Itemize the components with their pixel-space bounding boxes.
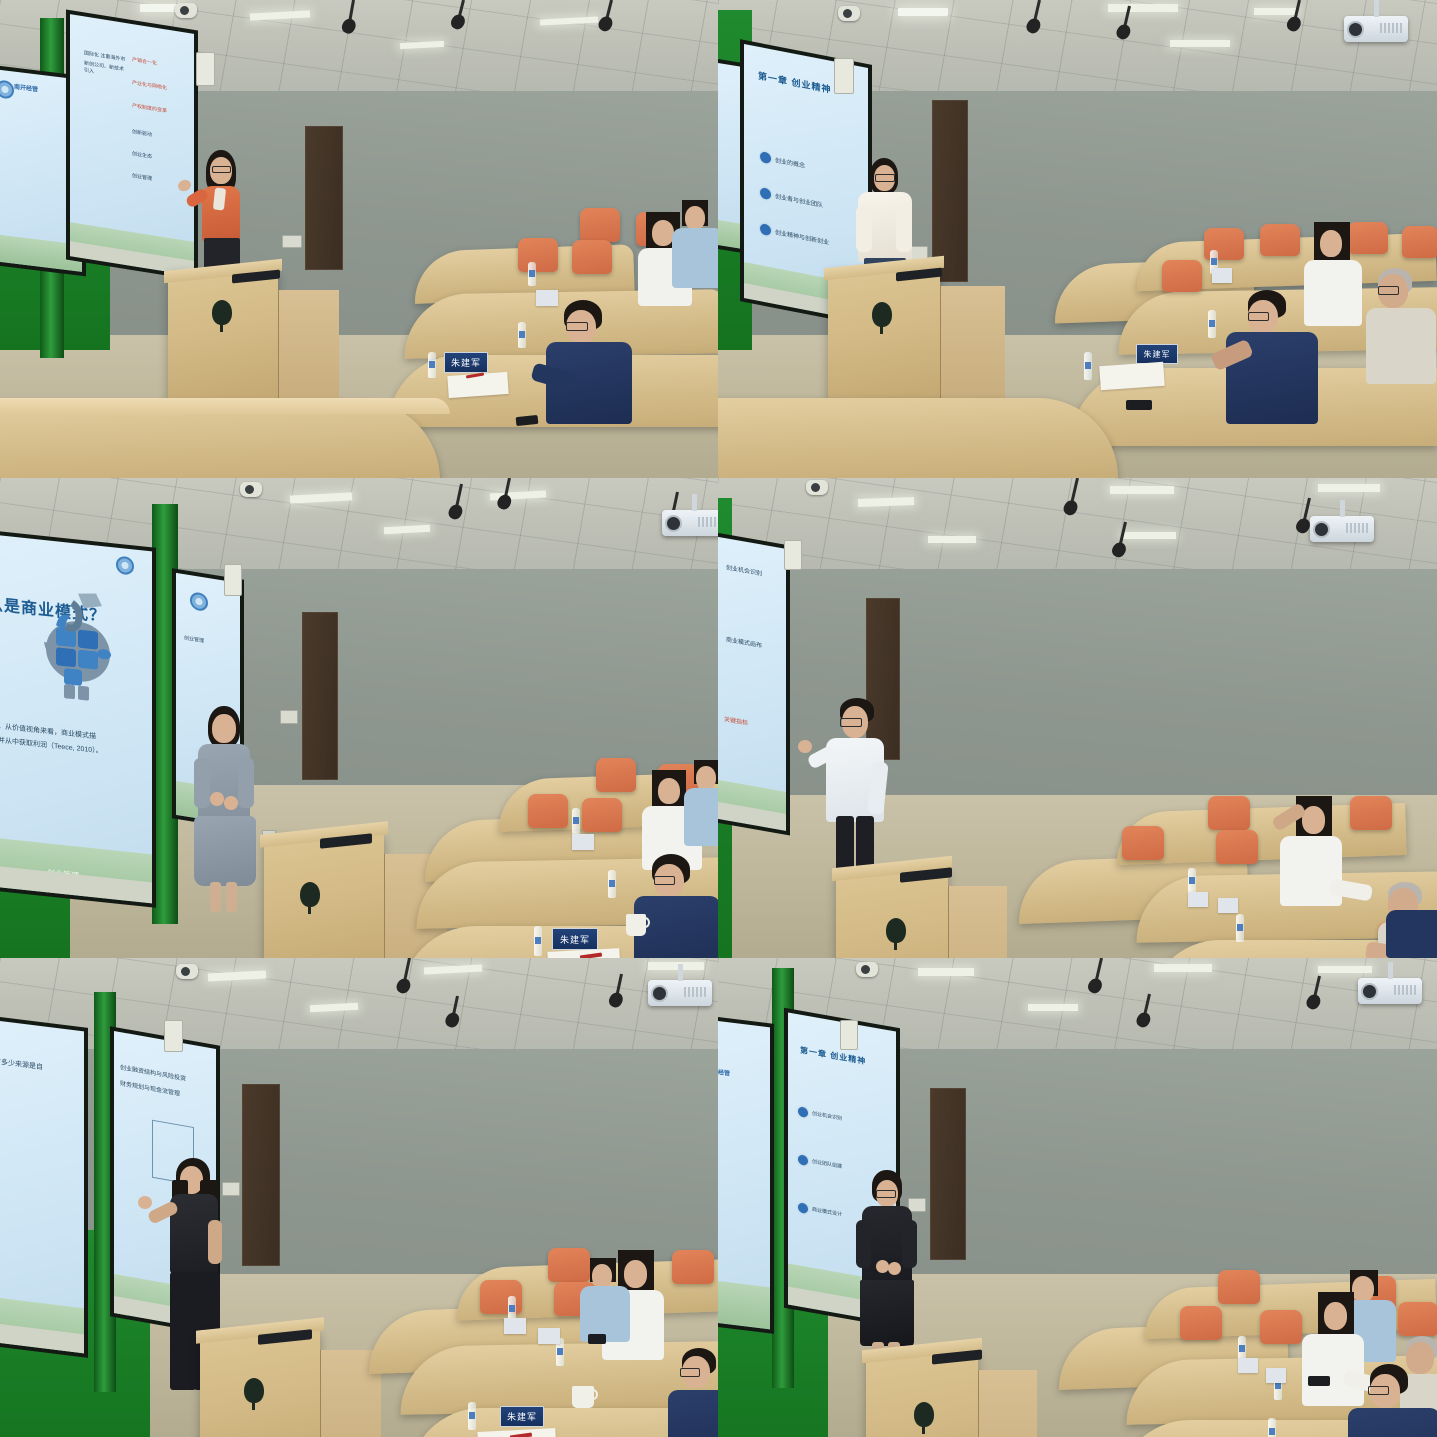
ceiling-projector [1344,16,1408,42]
hand [798,740,812,753]
head [652,220,674,246]
projection-screen-main: 国际化 注重海外市 新创公司、新技术引入 产销合一化 产业化与网络化 产权制度的… [66,10,198,281]
head [1320,230,1342,257]
torso [1348,1408,1437,1437]
auditorium-chair[interactable] [1402,226,1437,258]
auditorium-chair[interactable] [572,240,612,274]
ceiling-light [1154,964,1212,972]
ceiling-camera-icon [838,6,860,21]
head [1324,1302,1347,1330]
auditorium-chair[interactable] [528,794,568,828]
bullet-icon [760,151,771,164]
slide-line: 创业机会识别 [726,562,762,577]
ceiling-camera-icon [175,3,197,18]
bullet-icon [760,223,771,236]
head [696,766,716,790]
name-card [1188,892,1208,907]
glasses-icon [566,322,588,331]
ceiling-light [1318,966,1372,973]
panel-6: 南开经管 第一章 创业精神 创业机会识别 创业团队组建 商业模式设计 创业管理 [718,958,1437,1437]
ceiling-camera-icon [176,964,198,979]
bullet-icon [760,187,771,200]
dress-skirt [860,1280,914,1346]
auditorium-chair[interactable] [1216,830,1258,864]
wall-control-panel [840,1020,858,1050]
glasses-icon [1248,312,1269,321]
audience-navy-polo-man [1344,1364,1437,1437]
arm [194,758,210,808]
podium-cabinet[interactable] [278,290,339,400]
side-door[interactable] [242,1084,280,1266]
glasses-icon [1368,1386,1389,1395]
ceiling-camera-icon [856,962,878,977]
water-bottle [1268,1418,1276,1437]
podium-emblem-icon [872,302,892,327]
ceiling-projector [662,510,718,536]
white-mug [626,914,646,936]
torso [672,228,718,288]
auditorium-chair[interactable] [582,798,622,832]
ceiling-light [918,968,974,976]
slide-line: 创业管理 [184,634,204,644]
wall-control-panel [196,52,215,86]
piggy-bank-illustration-icon [34,585,118,706]
slide-red-line: 产权制度的变革 [132,102,167,115]
auditorium-chair[interactable] [548,1248,590,1282]
arm [856,1220,871,1268]
audience-white-top-woman [1274,796,1372,956]
auditorium-chair[interactable] [1398,1302,1437,1336]
wall-control-panel [224,564,242,596]
dress-skirt [194,816,256,886]
name-card [1238,1358,1258,1373]
smartphone [1308,1376,1330,1386]
torso [684,788,718,846]
torso [1366,308,1436,384]
glasses-icon [876,1190,896,1198]
ceiling-light [1122,532,1176,539]
glasses-icon [212,166,231,173]
torso [668,1390,718,1437]
ceiling-light [1254,8,1298,15]
leg [226,882,237,912]
wall-control-panel [784,540,802,570]
name-placard: 朱建军 [552,928,598,950]
wall-control-panel [164,1020,183,1052]
hand [224,796,238,810]
name-card [504,1318,526,1334]
neck-scarf [213,187,226,210]
slide-red-line: 产业化与网络化 [132,79,167,92]
slide-line: 创业团队组建 [812,1158,842,1170]
auditorium-chair[interactable] [1180,1306,1222,1340]
auditorium-chair[interactable] [1208,796,1250,830]
audience-navy-polo-man [672,1348,718,1437]
slide-logo: 南开经管 [718,1066,730,1078]
name-card [572,834,594,850]
wall-control-panel [834,58,854,94]
side-door[interactable] [930,1088,966,1260]
podium [264,834,384,958]
podium [168,270,278,400]
head [658,778,680,804]
name-placard: 朱建军 [500,1406,544,1427]
glasses-icon [840,718,862,727]
slide-line: 创业机会识别 [812,1110,842,1122]
glasses-icon [875,174,895,182]
hand [888,1262,901,1275]
arm [902,1220,917,1268]
ceiling-light [1108,4,1178,12]
projection-screen-main: 什么是商业模式？ 一种工具，从价值视角来看， [0,528,156,908]
podium-emblem-icon [244,1378,264,1403]
auditorium-chair[interactable] [580,208,620,242]
water-bottle [534,926,542,956]
leg [170,1272,196,1390]
arm [856,206,872,252]
side-door[interactable] [305,126,343,270]
name-card [1218,898,1238,913]
water-bottle [1084,352,1092,380]
name-card [1266,1368,1286,1383]
panel-4: 创业机会识别 商业模式画布 关键指标 [718,478,1437,958]
wall-outlet [280,710,298,724]
head [1302,806,1325,834]
projection-screen-left: 金来源中有多少来源是自 [0,1012,88,1358]
ceiling-light [1028,1004,1078,1011]
ceiling-light [1170,40,1230,47]
head [592,1264,612,1288]
water-bottle [608,870,616,898]
torso [1386,910,1437,958]
slide-line: 金来源中有多少来源是自 [0,1053,84,1078]
ceiling-camera-icon [806,480,828,495]
projection-screen-main: 创业机会识别 商业模式画布 关键指标 [718,526,790,835]
name-placard: 朱建军 [444,352,488,373]
podium-cabinet[interactable] [940,286,1005,400]
podium-emblem-icon [886,918,906,943]
ceiling-light [928,536,976,543]
front-desk-row [718,398,1118,478]
slide-red-line: 关键指标 [724,714,748,727]
auditorium-chair[interactable] [1260,224,1300,256]
glasses-icon [680,1368,700,1377]
audience-navy-polo-man [540,300,670,450]
smartphone [1126,400,1152,410]
head [212,714,236,743]
name-card [538,1328,560,1344]
arm [896,206,912,252]
podium [836,868,948,958]
bullet-icon [798,1106,808,1118]
ceiling-camera-icon [240,482,262,497]
slide-line: 新创公司、新技术引入 [84,60,128,81]
glasses-icon [1378,286,1399,295]
slide-red-line: 产销合一化 [132,56,157,67]
audience-navy-polo-man [632,854,718,958]
bullet-icon [798,1202,808,1214]
panel-2: 第一章 创业精神 创业的概念 创业者与创业团队 创业精神与创新创业 创业管理 [718,0,1437,478]
slide-logo: 南开经管 [14,82,38,94]
torso [1280,836,1342,906]
arm [238,758,254,808]
podium-emblem-icon [212,300,232,325]
water-bottle [428,352,436,378]
audience-navy-polo-man [1386,910,1437,958]
presenter-3 [192,706,272,896]
name-card [536,290,558,306]
paper-sheet [1099,362,1165,390]
projection-screen-left: 南开经管 [718,1012,774,1334]
slide-line: 创业精神与创新创业 [775,227,829,246]
auditorium-chair[interactable] [518,238,558,272]
head [685,206,705,230]
water-bottle [1188,868,1196,894]
white-mug [572,1386,594,1408]
ceiling-light [648,962,704,970]
leg [210,882,221,912]
slide-line: 创业的概念 [775,155,805,170]
hand [138,1196,152,1209]
ceiling-projector [648,980,712,1006]
ceiling-light [898,8,948,16]
side-door[interactable] [932,100,968,282]
front-desk-top [0,398,450,414]
auditorium-chair[interactable] [1218,1270,1260,1304]
wall-outlet [282,235,302,248]
hand [876,1260,889,1273]
podium-emblem-icon [914,1402,934,1427]
panel-3: 什么是商业模式？ 一种工具，从价值视角来看， [0,478,718,958]
ceiling-projector [1310,516,1374,542]
slide-line: 商业模式画布 [726,634,762,649]
panel-1: 南开经管 国际化 注重海外市 新创公司、新技术引入 产销合一化 产业化与网络化 … [0,0,718,478]
water-bottle [1236,914,1244,942]
photo-collage: 南开经管 国际化 注重海外市 新创公司、新技术引入 产销合一化 产业化与网络化 … [0,0,1437,1437]
ceiling-projector [1358,978,1422,1004]
water-bottle [1208,310,1216,338]
water-bottle [572,808,580,834]
audience-navy-polo-man [1218,290,1348,460]
podium-cabinet[interactable] [948,886,1007,958]
auditorium-chair[interactable] [1122,826,1164,860]
slide-line: 商业模式设计 [812,1206,842,1218]
slide-line: 创业管理 [132,172,152,182]
water-bottle [468,1402,476,1430]
ceiling-light [1318,484,1380,492]
slide-line: 创业生态 [132,150,152,160]
water-bottle [528,262,536,286]
panel-5: 金来源中有多少来源是自 创业融资结构与风险投资 财务规划与现金流管理 [0,958,718,1437]
slide-line: 创业者与创业团队 [775,191,823,209]
podium-emblem-icon [300,882,320,907]
bullet-icon [798,1154,808,1166]
name-placard: 朱建军 [1136,344,1178,364]
auditorium-chair[interactable] [1162,260,1202,292]
slide-title: 第一章 创业精神 [758,69,832,96]
arm [208,1220,222,1264]
slide-line: 创新驱动 [132,128,152,138]
auditorium-chair[interactable] [596,758,636,792]
hand [210,792,224,806]
podium-cabinet[interactable] [978,1370,1037,1437]
side-door[interactable] [302,612,338,780]
smartphone [588,1334,606,1344]
name-card [1212,268,1232,283]
ceiling-light [1110,486,1174,494]
glasses-icon [654,876,675,885]
audience-gray-hair-man [1366,268,1437,418]
podium [828,268,940,400]
water-bottle [518,322,526,348]
audience-blue-shirt-man [676,200,718,320]
